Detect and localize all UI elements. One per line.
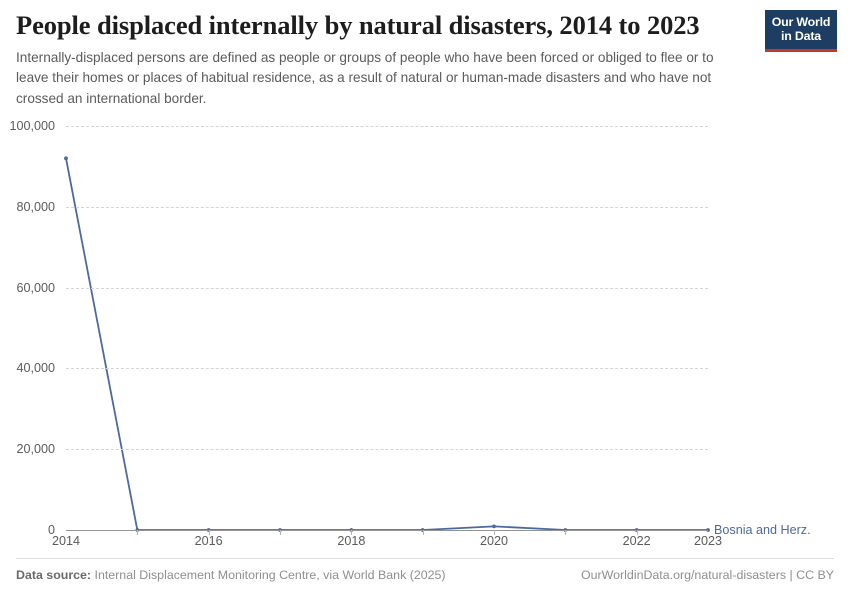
x-axis-tick-label: 2016 — [195, 534, 223, 548]
chart-footer: Data source: Internal Displacement Monit… — [0, 558, 850, 600]
series-line[interactable] — [66, 158, 708, 530]
data-source-label: Data source: — [16, 568, 91, 582]
gridline — [66, 449, 708, 450]
data-point-marker[interactable] — [492, 524, 496, 528]
axis-baseline — [66, 530, 708, 531]
x-axis-tick-label: 2020 — [480, 534, 508, 548]
attribution-link[interactable]: OurWorldinData.org/natural-disasters | C… — [581, 568, 834, 582]
logo-line-1: Our World — [772, 16, 831, 30]
gridline — [66, 288, 708, 289]
data-point-marker[interactable] — [64, 156, 68, 160]
x-axis-tick-mark — [137, 530, 138, 535]
our-world-in-data-logo[interactable]: Our World in Data — [765, 10, 837, 52]
logo-line-2: in Data — [781, 30, 821, 44]
y-axis-tick-label: 100,000 — [0, 119, 55, 133]
x-axis-tick-label: 2014 — [52, 534, 80, 548]
x-axis-tick-label: 2018 — [337, 534, 365, 548]
y-axis-tick-label: 0 — [0, 523, 55, 537]
plot-area: 020,00040,00060,00080,000100,00020142016… — [66, 126, 708, 530]
x-axis-tick-mark — [423, 530, 424, 535]
data-source-value: Internal Displacement Monitoring Centre,… — [95, 568, 446, 582]
gridline — [66, 207, 708, 208]
chart-page: People displaced internally by natural d… — [0, 0, 850, 600]
chart-header: People displaced internally by natural d… — [0, 0, 850, 112]
y-axis-tick-label: 60,000 — [0, 281, 55, 295]
footer-divider — [16, 558, 834, 559]
page-title: People displaced internally by natural d… — [16, 10, 746, 41]
gridline — [66, 126, 708, 127]
y-axis-tick-label: 20,000 — [0, 442, 55, 456]
data-source: Data source: Internal Displacement Monit… — [16, 568, 446, 582]
y-axis-tick-label: 40,000 — [0, 361, 55, 375]
gridline — [66, 368, 708, 369]
x-axis-tick-mark — [565, 530, 566, 535]
x-axis-tick-label: 2022 — [623, 534, 651, 548]
x-axis-tick-mark — [280, 530, 281, 535]
chart-subtitle: Internally-displaced persons are defined… — [16, 48, 748, 109]
y-axis-tick-label: 80,000 — [0, 200, 55, 214]
series-layer — [66, 126, 708, 530]
series-label[interactable]: Bosnia and Herz. — [714, 523, 811, 537]
